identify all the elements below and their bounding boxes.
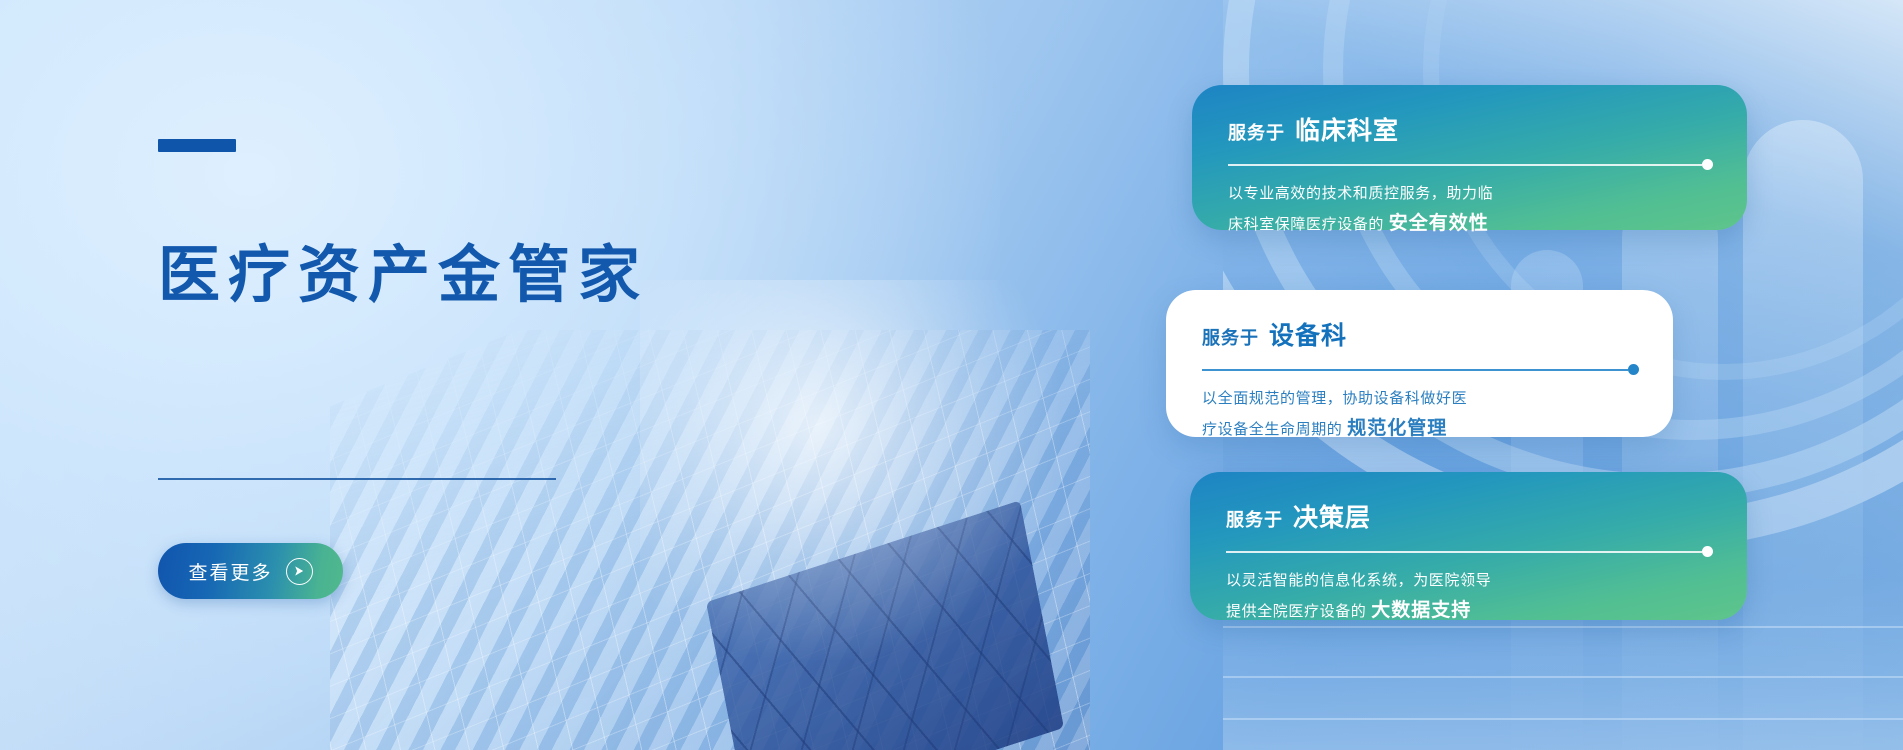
card-body-line1: 以全面规范的管理，协助设备科做好医 xyxy=(1202,386,1639,412)
card-body: 以灵活智能的信息化系统，为医院领导 提供全院医疗设备的 大数据支持 xyxy=(1226,568,1713,628)
service-cards: 服务于 临床科室 以专业高效的技术和质控服务，助力临 床科室保障医疗设备的 安全… xyxy=(0,0,1903,750)
card-rule xyxy=(1226,546,1713,557)
card-body-highlight: 安全有效性 xyxy=(1389,213,1489,234)
card-body-line1: 以灵活智能的信息化系统，为医院领导 xyxy=(1226,568,1713,594)
card-body-line2: 床科室保障医疗设备的 xyxy=(1228,216,1384,233)
card-prefix: 服务于 xyxy=(1228,119,1285,145)
card-body-line2-wrap: 疗设备全生命周期的 规范化管理 xyxy=(1202,412,1639,445)
hero-banner: 医疗资产金管家 查看更多 服务于 临床科室 以专业高效的技术和质控服务，助力临 xyxy=(0,0,1903,750)
card-body-line2-wrap: 床科室保障医疗设备的 安全有效性 xyxy=(1228,207,1713,240)
service-card-clinical[interactable]: 服务于 临床科室 以专业高效的技术和质控服务，助力临 床科室保障医疗设备的 安全… xyxy=(1192,85,1747,230)
card-department: 临床科室 xyxy=(1295,111,1399,147)
card-rule-dot xyxy=(1628,364,1639,375)
card-rule-dot xyxy=(1702,159,1713,170)
card-department: 决策层 xyxy=(1293,498,1371,534)
card-body-highlight: 规范化管理 xyxy=(1347,418,1447,439)
card-heading: 服务于 设备科 xyxy=(1202,316,1639,352)
card-rule-line xyxy=(1202,369,1628,371)
card-body: 以全面规范的管理，协助设备科做好医 疗设备全生命周期的 规范化管理 xyxy=(1202,386,1639,446)
card-prefix: 服务于 xyxy=(1202,324,1259,350)
card-heading: 服务于 决策层 xyxy=(1226,498,1713,534)
card-body-line2: 疗设备全生命周期的 xyxy=(1202,421,1342,438)
card-heading: 服务于 临床科室 xyxy=(1228,111,1713,147)
card-body-line1: 以专业高效的技术和质控服务，助力临 xyxy=(1228,181,1713,207)
service-card-equipment[interactable]: 服务于 设备科 以全面规范的管理，协助设备科做好医 疗设备全生命周期的 规范化管… xyxy=(1166,290,1673,437)
card-department: 设备科 xyxy=(1269,316,1347,352)
card-prefix: 服务于 xyxy=(1226,506,1283,532)
card-rule xyxy=(1228,159,1713,170)
card-body: 以专业高效的技术和质控服务，助力临 床科室保障医疗设备的 安全有效性 xyxy=(1228,181,1713,241)
card-body-highlight: 大数据支持 xyxy=(1371,600,1471,621)
service-card-decision[interactable]: 服务于 决策层 以灵活智能的信息化系统，为医院领导 提供全院医疗设备的 大数据支… xyxy=(1190,472,1747,620)
card-rule-line xyxy=(1228,164,1702,166)
card-rule-dot xyxy=(1702,546,1713,557)
card-body-line2-wrap: 提供全院医疗设备的 大数据支持 xyxy=(1226,594,1713,627)
card-body-line2: 提供全院医疗设备的 xyxy=(1226,603,1366,620)
card-rule xyxy=(1202,364,1639,375)
card-rule-line xyxy=(1226,551,1702,553)
